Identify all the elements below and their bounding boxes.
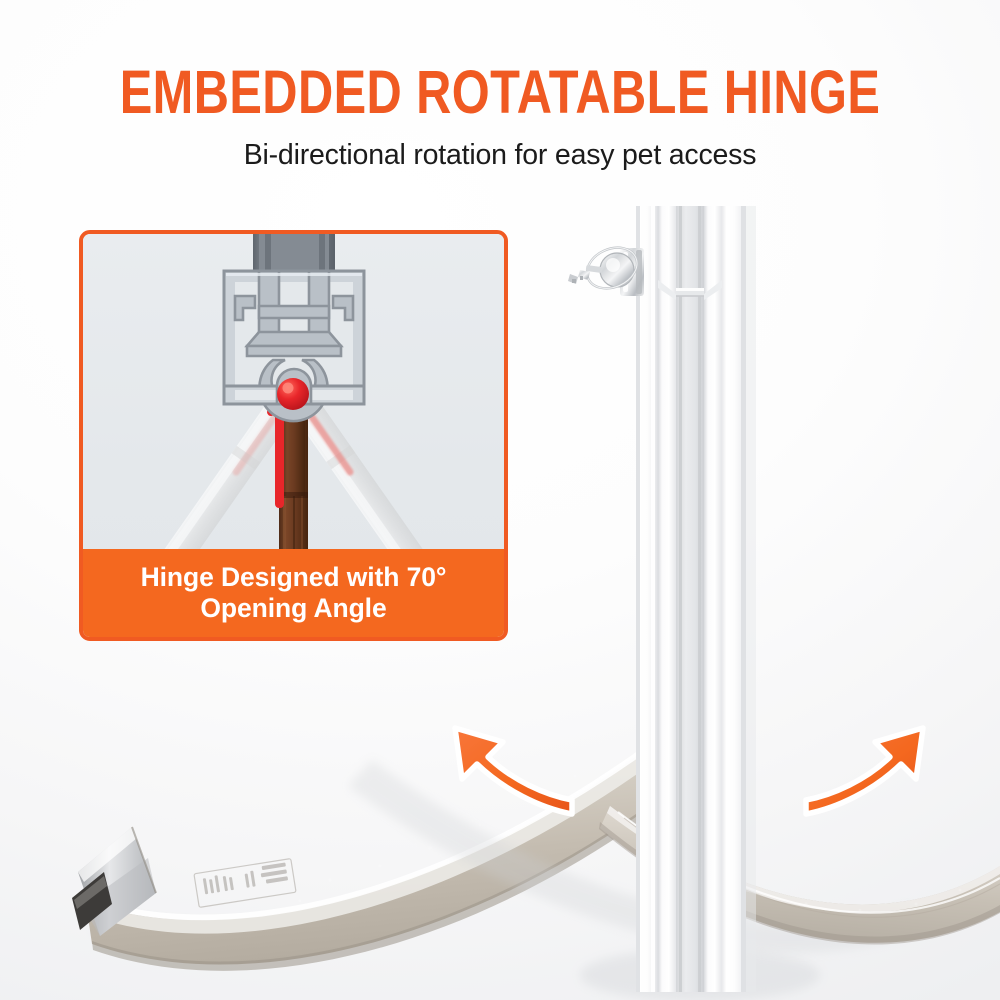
rotation-arrow-right	[806, 728, 923, 814]
page-title: EMBEDDED ROTATABLE HINGE	[100, 0, 900, 123]
product-feature-image: EMBEDDED ROTATABLE HINGE Bi-directional …	[0, 0, 1000, 1000]
header: EMBEDDED ROTATABLE HINGE Bi-directional …	[0, 0, 1000, 172]
rotation-arrow-left	[455, 728, 572, 814]
page-subtitle: Bi-directional rotation for easy pet acc…	[0, 123, 1000, 172]
